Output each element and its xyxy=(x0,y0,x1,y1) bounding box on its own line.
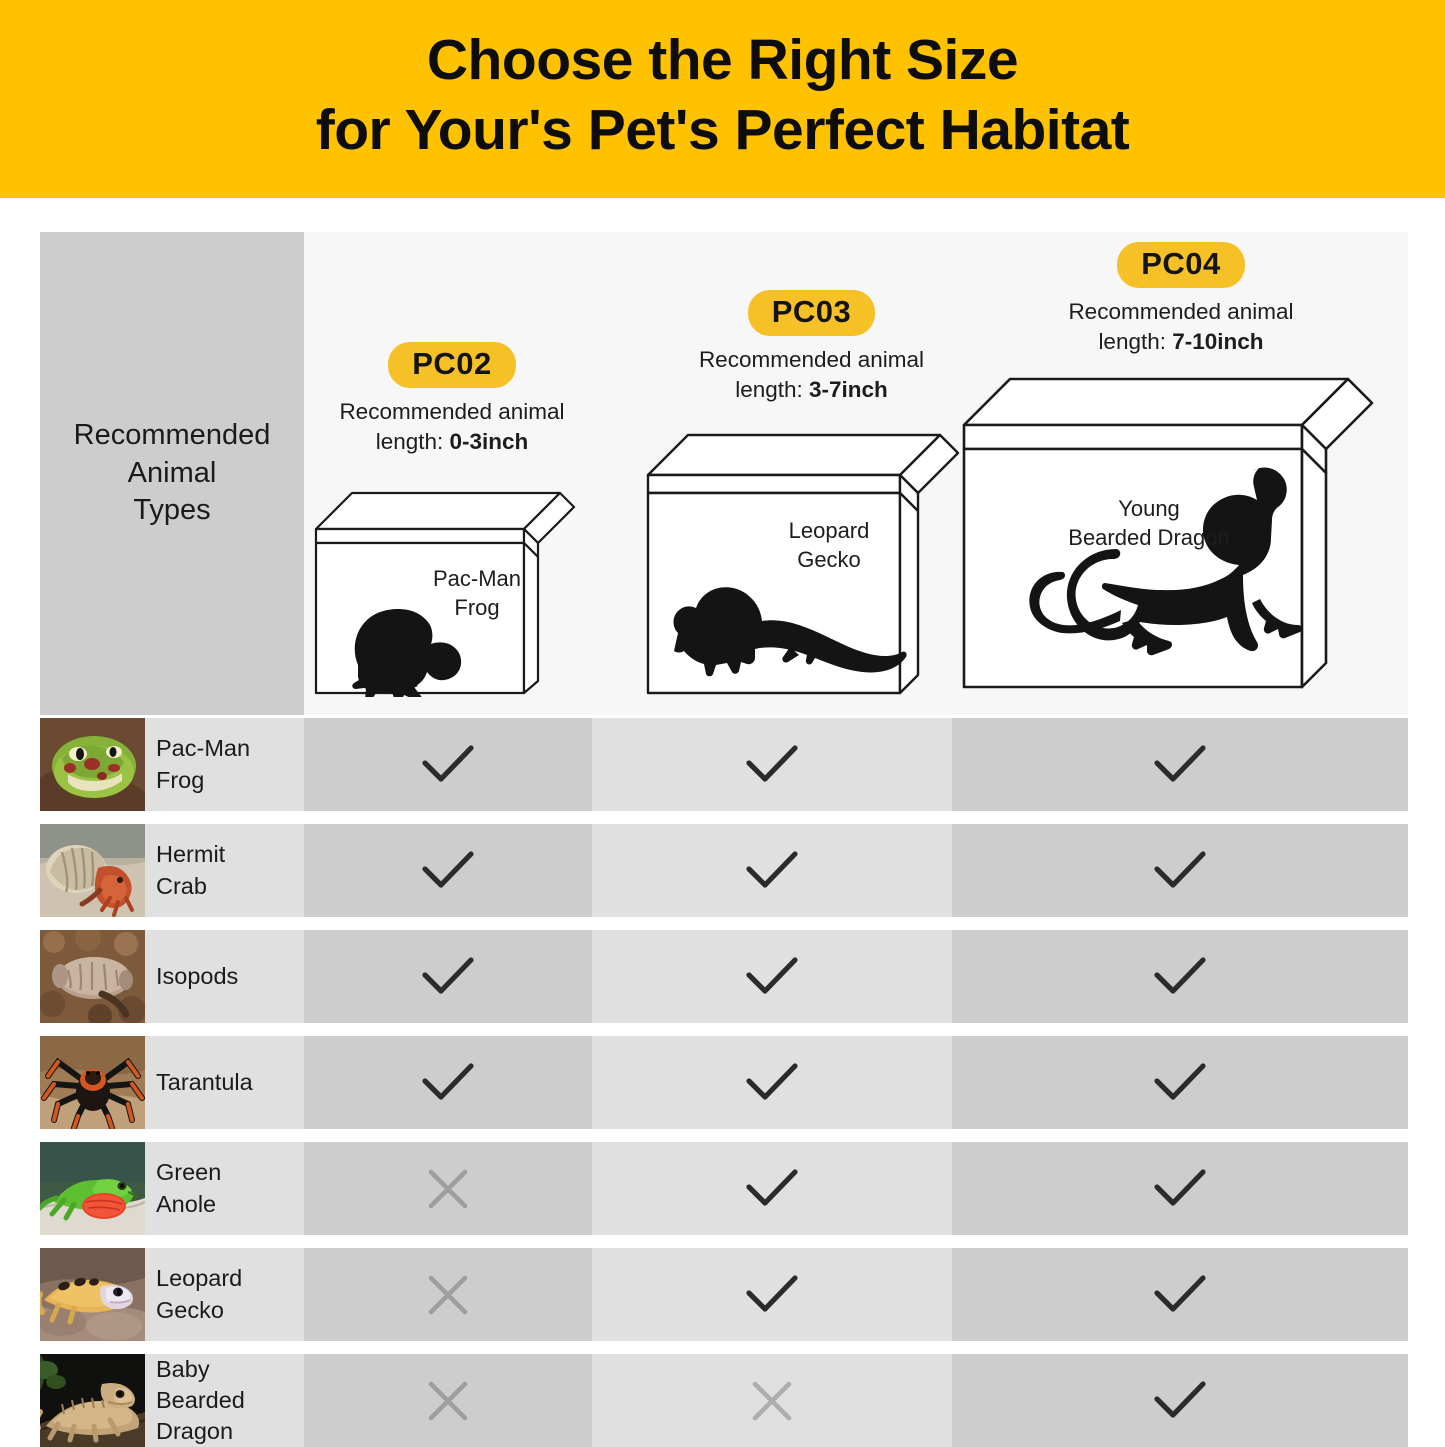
pc04-recommendation: Recommended animal length: 7-10inch xyxy=(960,297,1402,357)
table-row: Tarantula xyxy=(40,1036,1408,1129)
pc04-rec-value: 7-10inch xyxy=(1172,329,1263,354)
cell-pc03 xyxy=(592,1036,952,1129)
pc02-recommendation: Recommended animal length: 0-3inch xyxy=(312,397,592,457)
check-icon xyxy=(592,824,952,917)
pc03-rec-label: length: xyxy=(735,377,809,402)
row-thumbnail-cell xyxy=(40,824,145,917)
infographic-page: Choose the Right Size for Your's Pet's P… xyxy=(0,0,1445,1415)
badge-pc04: PC04 xyxy=(1117,242,1245,288)
cell-pc03 xyxy=(592,1354,952,1447)
green-anole-photo xyxy=(40,1142,145,1235)
table-row: Isopods xyxy=(40,930,1408,1023)
check-icon xyxy=(304,1036,592,1129)
pc03-animal-line-1: Leopard xyxy=(754,517,904,546)
row-name-line-1: Baby Bearded xyxy=(156,1354,304,1416)
pc02-badge-wrap: PC02 xyxy=(312,342,592,388)
row-label-cell: Baby Bearded Dragon xyxy=(145,1354,304,1447)
badge-pc02: PC02 xyxy=(388,342,516,388)
cell-pc04 xyxy=(952,1354,1408,1447)
row-name-line-2: Anole xyxy=(156,1189,221,1220)
table-row: Pac-Man Frog xyxy=(40,718,1408,811)
badge-pc03: PC03 xyxy=(748,290,876,336)
row-label-cell: Green Anole xyxy=(145,1142,304,1235)
row-label-cell: Isopods xyxy=(145,930,304,1023)
check-icon xyxy=(592,718,952,811)
product-group-pc04: PC04 Recommended animal length: 7-10inch xyxy=(960,242,1402,693)
pc04-rec-label: length: xyxy=(1098,329,1172,354)
tarantula-photo xyxy=(40,1036,145,1129)
leopard-gecko-photo xyxy=(40,1248,145,1341)
cell-pc03 xyxy=(592,1142,952,1235)
check-icon xyxy=(952,930,1408,1023)
cross-icon xyxy=(304,1142,592,1235)
pc02-rec-label: length: xyxy=(376,429,450,454)
cell-pc03 xyxy=(592,824,952,917)
cell-pc04 xyxy=(952,930,1408,1023)
row-name-line-1: Green xyxy=(156,1157,221,1188)
page-title: Choose the Right Size for Your's Pet's P… xyxy=(316,26,1130,171)
pc03-rec-line-1: Recommended animal xyxy=(644,345,979,375)
pc03-rec-value: 3-7inch xyxy=(809,377,888,402)
table-row: Green Anole xyxy=(40,1142,1408,1235)
row-name-line-2: Gecko xyxy=(156,1295,242,1326)
check-icon xyxy=(952,1354,1408,1447)
pc03-recommendation: Recommended animal length: 3-7inch xyxy=(644,345,979,405)
row-name-line-1: Isopods xyxy=(156,961,238,992)
cell-pc02 xyxy=(304,1354,592,1447)
row-thumbnail-cell xyxy=(40,1354,145,1447)
cross-icon xyxy=(304,1248,592,1341)
row-name-line-1: Leopard xyxy=(156,1263,242,1294)
check-icon xyxy=(592,1142,952,1235)
pc04-animal-line-1: Young xyxy=(1044,495,1254,524)
cell-pc04 xyxy=(952,1036,1408,1129)
hermit-crab-photo xyxy=(40,824,145,917)
cell-pc04 xyxy=(952,718,1408,811)
cross-icon xyxy=(592,1354,952,1447)
row-thumbnail-cell xyxy=(40,1142,145,1235)
check-icon xyxy=(304,930,592,1023)
row-thumbnail-cell xyxy=(40,1248,145,1341)
check-icon xyxy=(952,824,1408,917)
check-icon xyxy=(592,1036,952,1129)
pc03-animal-line-2: Gecko xyxy=(754,546,904,575)
cell-pc04 xyxy=(952,824,1408,917)
row-label-cell: Leopard Gecko xyxy=(145,1248,304,1341)
cell-pc04 xyxy=(952,1142,1408,1235)
check-icon xyxy=(592,930,952,1023)
panel-header-line-3: Types xyxy=(74,492,271,530)
row-thumbnail-cell xyxy=(40,930,145,1023)
panel-header-line-2: Animal xyxy=(74,455,271,493)
row-name-line-1: Pac-Man xyxy=(156,733,250,764)
compatibility-table: Pac-Man Frog xyxy=(40,718,1408,1447)
isopods-photo xyxy=(40,930,145,1023)
table-row: Baby Bearded Dragon xyxy=(40,1354,1408,1447)
table-row: Leopard Gecko xyxy=(40,1248,1408,1341)
cell-pc03 xyxy=(592,718,952,811)
row-label-cell: Pac-Man Frog xyxy=(145,718,304,811)
cell-pc02 xyxy=(304,930,592,1023)
check-icon xyxy=(952,718,1408,811)
row-name-line-2: Crab xyxy=(156,871,225,902)
title-line-2: for Your's Pet's Perfect Habitat xyxy=(316,96,1130,166)
row-name-line-2: Dragon xyxy=(156,1416,304,1447)
row-thumbnail-cell xyxy=(40,718,145,811)
check-icon xyxy=(592,1248,952,1341)
tank-label-pc04: Young Bearded Dragon xyxy=(1044,495,1254,552)
check-icon xyxy=(304,718,592,811)
pc04-rec-line-1: Recommended animal xyxy=(960,297,1402,327)
pc02-rec-line-1: Recommended animal xyxy=(312,397,592,427)
product-group-pc03: PC03 Recommended animal length: 3-7inch xyxy=(644,290,979,697)
row-thumbnail-cell xyxy=(40,1036,145,1129)
tank-label-pc02: Pac-Man Frog xyxy=(412,565,542,622)
cell-pc02 xyxy=(304,824,592,917)
check-icon xyxy=(304,824,592,917)
row-label-cell: Hermit Crab xyxy=(145,824,304,917)
cell-pc02 xyxy=(304,718,592,811)
pc02-rec-value: 0-3inch xyxy=(450,429,529,454)
tank-illustration-pc03: Leopard Gecko xyxy=(644,417,979,697)
size-comparison-panel: Recommended Animal Types PC02 Recommende… xyxy=(40,232,1408,715)
row-name-line-1: Hermit xyxy=(156,839,225,870)
pc04-animal-line-2: Bearded Dragon xyxy=(1044,524,1254,553)
cell-pc03 xyxy=(592,930,952,1023)
title-line-1: Choose the Right Size xyxy=(427,28,1018,92)
cross-icon xyxy=(304,1354,592,1447)
row-label-cell: Tarantula xyxy=(145,1036,304,1129)
header-banner: Choose the Right Size for Your's Pet's P… xyxy=(0,0,1445,198)
cell-pc02 xyxy=(304,1142,592,1235)
pc02-animal-line-2: Frog xyxy=(412,594,542,623)
pc03-badge-wrap: PC03 xyxy=(644,290,979,336)
baby-bearded-dragon-photo xyxy=(40,1354,145,1447)
cell-pc04 xyxy=(952,1248,1408,1341)
panel-header-cell: Recommended Animal Types xyxy=(40,232,304,715)
cell-pc02 xyxy=(304,1248,592,1341)
product-group-pc02: PC02 Recommended animal length: 0-3inch xyxy=(312,342,592,697)
pacman-frog-photo xyxy=(40,718,145,811)
row-name-line-2: Frog xyxy=(156,765,250,796)
check-icon xyxy=(952,1036,1408,1129)
pc04-badge-wrap: PC04 xyxy=(960,242,1402,288)
cell-pc02 xyxy=(304,1036,592,1129)
check-icon xyxy=(952,1248,1408,1341)
row-name-line-1: Tarantula xyxy=(156,1067,253,1098)
tank-illustration-pc02: Pac-Man Frog xyxy=(312,469,592,697)
check-icon xyxy=(952,1142,1408,1235)
cell-pc03 xyxy=(592,1248,952,1341)
table-row: Hermit Crab xyxy=(40,824,1408,917)
tank-illustration-pc04: Young Bearded Dragon xyxy=(960,369,1402,693)
panel-header-line-1: Recommended xyxy=(74,417,271,455)
pc02-animal-line-1: Pac-Man xyxy=(412,565,542,594)
tank-label-pc03: Leopard Gecko xyxy=(754,517,904,574)
